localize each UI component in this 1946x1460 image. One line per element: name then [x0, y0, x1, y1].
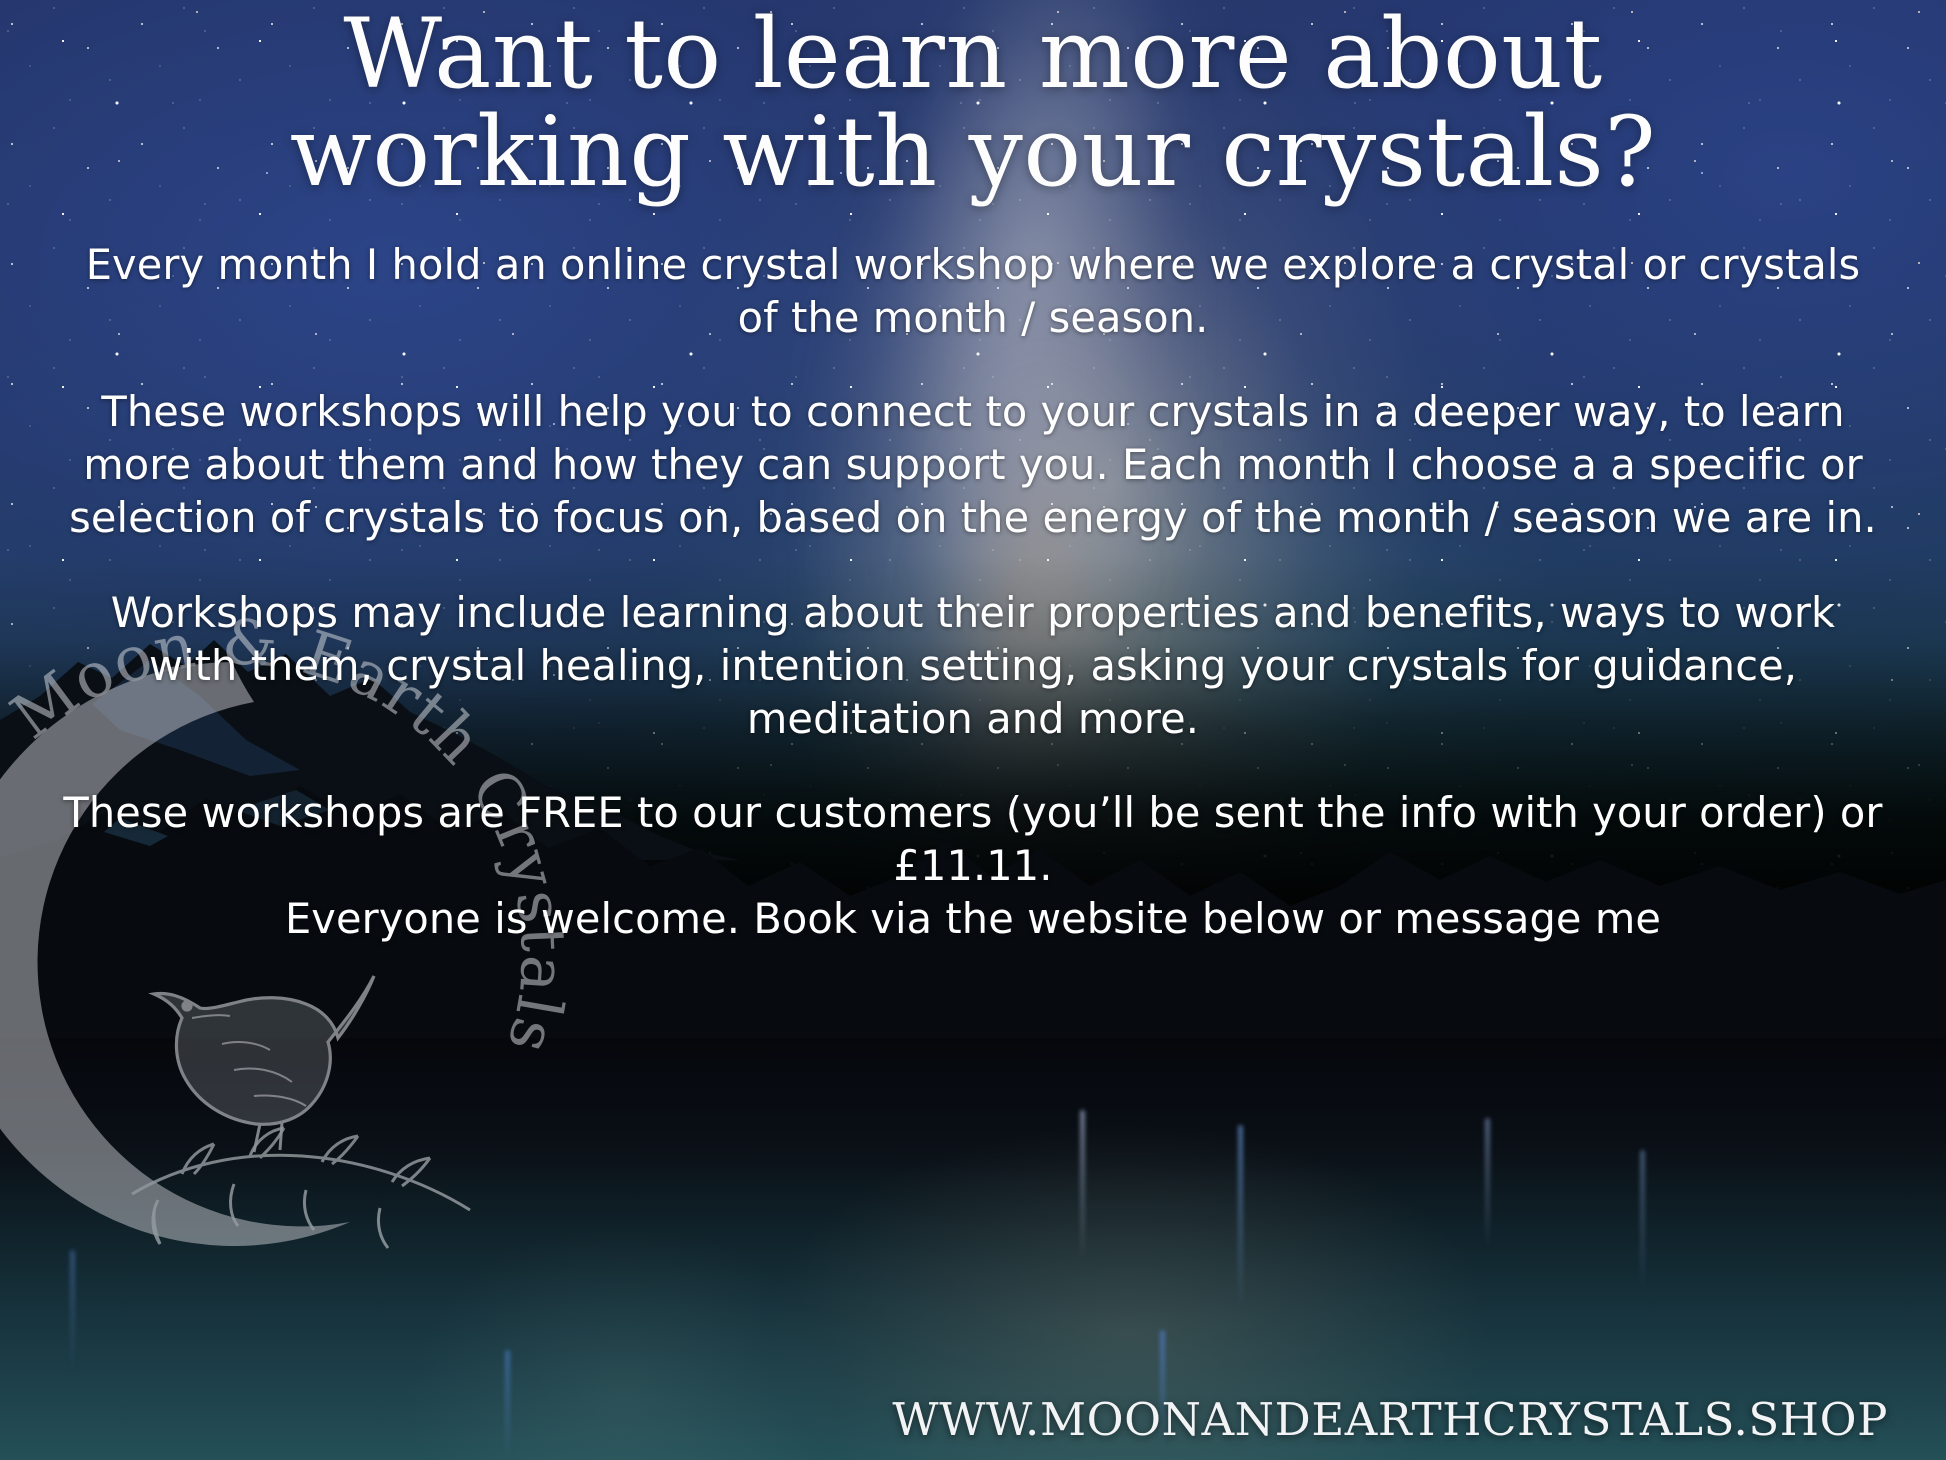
paragraph-booking: Everyone is welcome. Book via the websit… [60, 892, 1886, 945]
paragraph-intro: Every month I hold an online crystal wor… [60, 238, 1886, 344]
website-url[interactable]: WWW.MOONANDEARTHCRYSTALS.SHOP [892, 1393, 1888, 1446]
poster-canvas: Moon & Earth Crystals [0, 0, 1946, 1460]
paragraph-topics: Workshops may include learning about the… [60, 586, 1886, 745]
poster-content: Want to learn more about working with yo… [0, 0, 1946, 1460]
page-title: Want to learn more about working with yo… [0, 6, 1946, 202]
paragraph-details: These workshops will help you to connect… [60, 385, 1886, 544]
paragraph-pricing: These workshops are FREE to our customer… [60, 786, 1886, 892]
headline-line-2: working with your crystals? [0, 104, 1946, 202]
headline-line-1: Want to learn more about [343, 0, 1602, 110]
body-copy: Every month I hold an online crystal wor… [60, 238, 1886, 945]
